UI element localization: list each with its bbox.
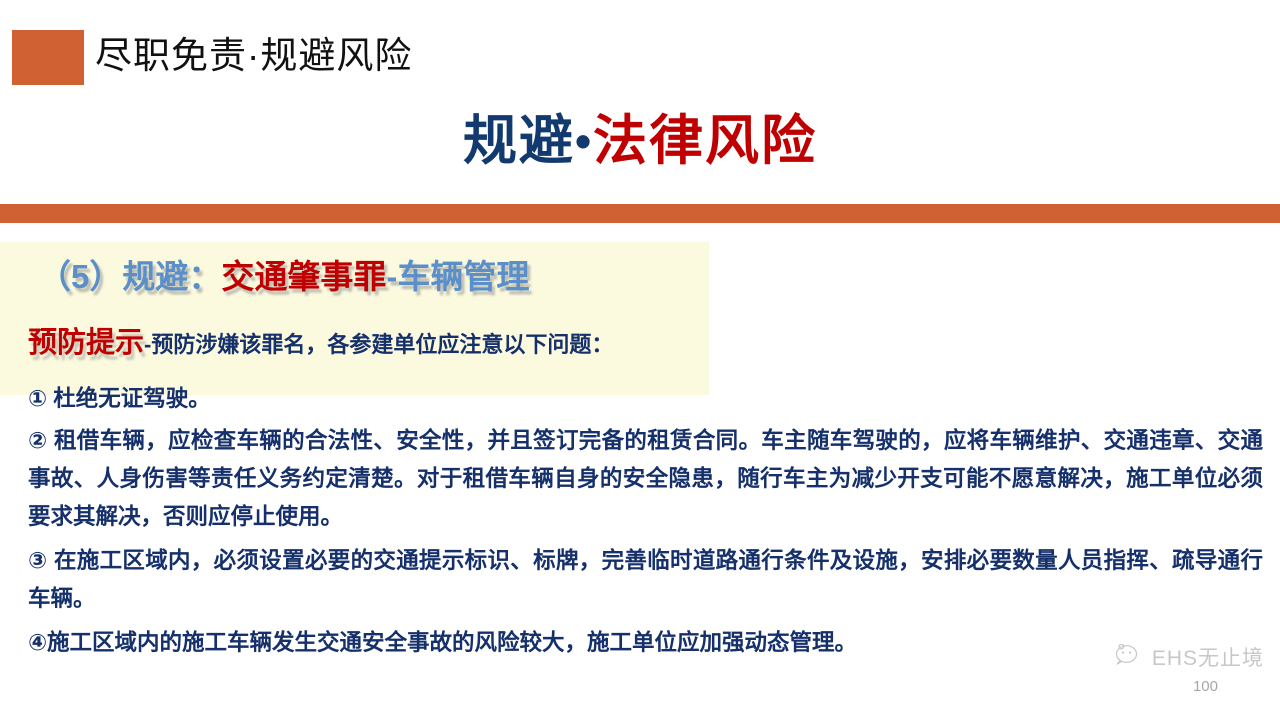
list-item: ④施工区域内的施工车辆发生交通安全事故的风险较大，施工单位应加强动态管理。 [28, 624, 1263, 662]
page-title: 规避•法律风险 [0, 104, 1280, 178]
watermark: EHS无止境 [1115, 642, 1264, 672]
page-title-part-red: 法律风险 [593, 111, 817, 171]
list-item: ① 杜绝无证驾驶。 [28, 380, 1263, 418]
header-title: 尽职免责·规避风险 [95, 27, 412, 85]
section-heading: （5）规避：交通肇事罪-车辆管理 [38, 252, 529, 302]
body-list: ① 杜绝无证驾驶。 ② 租借车辆，应检查车辆的合法性、安全性，并且签订完备的租赁… [28, 380, 1263, 668]
divider-bar [0, 204, 1280, 223]
prevention-tip-text: 预防涉嫌该罪名，各参建单位应注意以下问题： [151, 332, 613, 357]
header-accent-block [12, 30, 84, 85]
section-heading-crime: 交通肇事罪 [221, 258, 386, 295]
section-heading-dash: - [386, 258, 397, 295]
page-number: 100 [1193, 678, 1218, 695]
slide-header: 尽职免责·规避风险 [0, 30, 1280, 86]
section-heading-suffix: 车辆管理 [397, 258, 529, 295]
page-title-part-blue: 规避 [463, 111, 575, 171]
wechat-icon [1115, 644, 1145, 670]
prevention-tip-label: 预防提示 [28, 327, 144, 359]
list-item: ③ 在施工区域内，必须设置必要的交通提示标识、标牌，完善临时道路通行条件及设施，… [28, 542, 1263, 618]
list-item: ② 租借车辆，应检查车辆的合法性、安全性，并且签订完备的租赁合同。车主随车驾驶的… [28, 422, 1263, 536]
page-title-dot: • [575, 115, 593, 167]
section-heading-prefix: （5）规避： [38, 258, 221, 295]
prevention-tip-line: 预防提示-预防涉嫌该罪名，各参建单位应注意以下问题： [28, 324, 613, 367]
watermark-text: EHS无止境 [1152, 642, 1264, 672]
